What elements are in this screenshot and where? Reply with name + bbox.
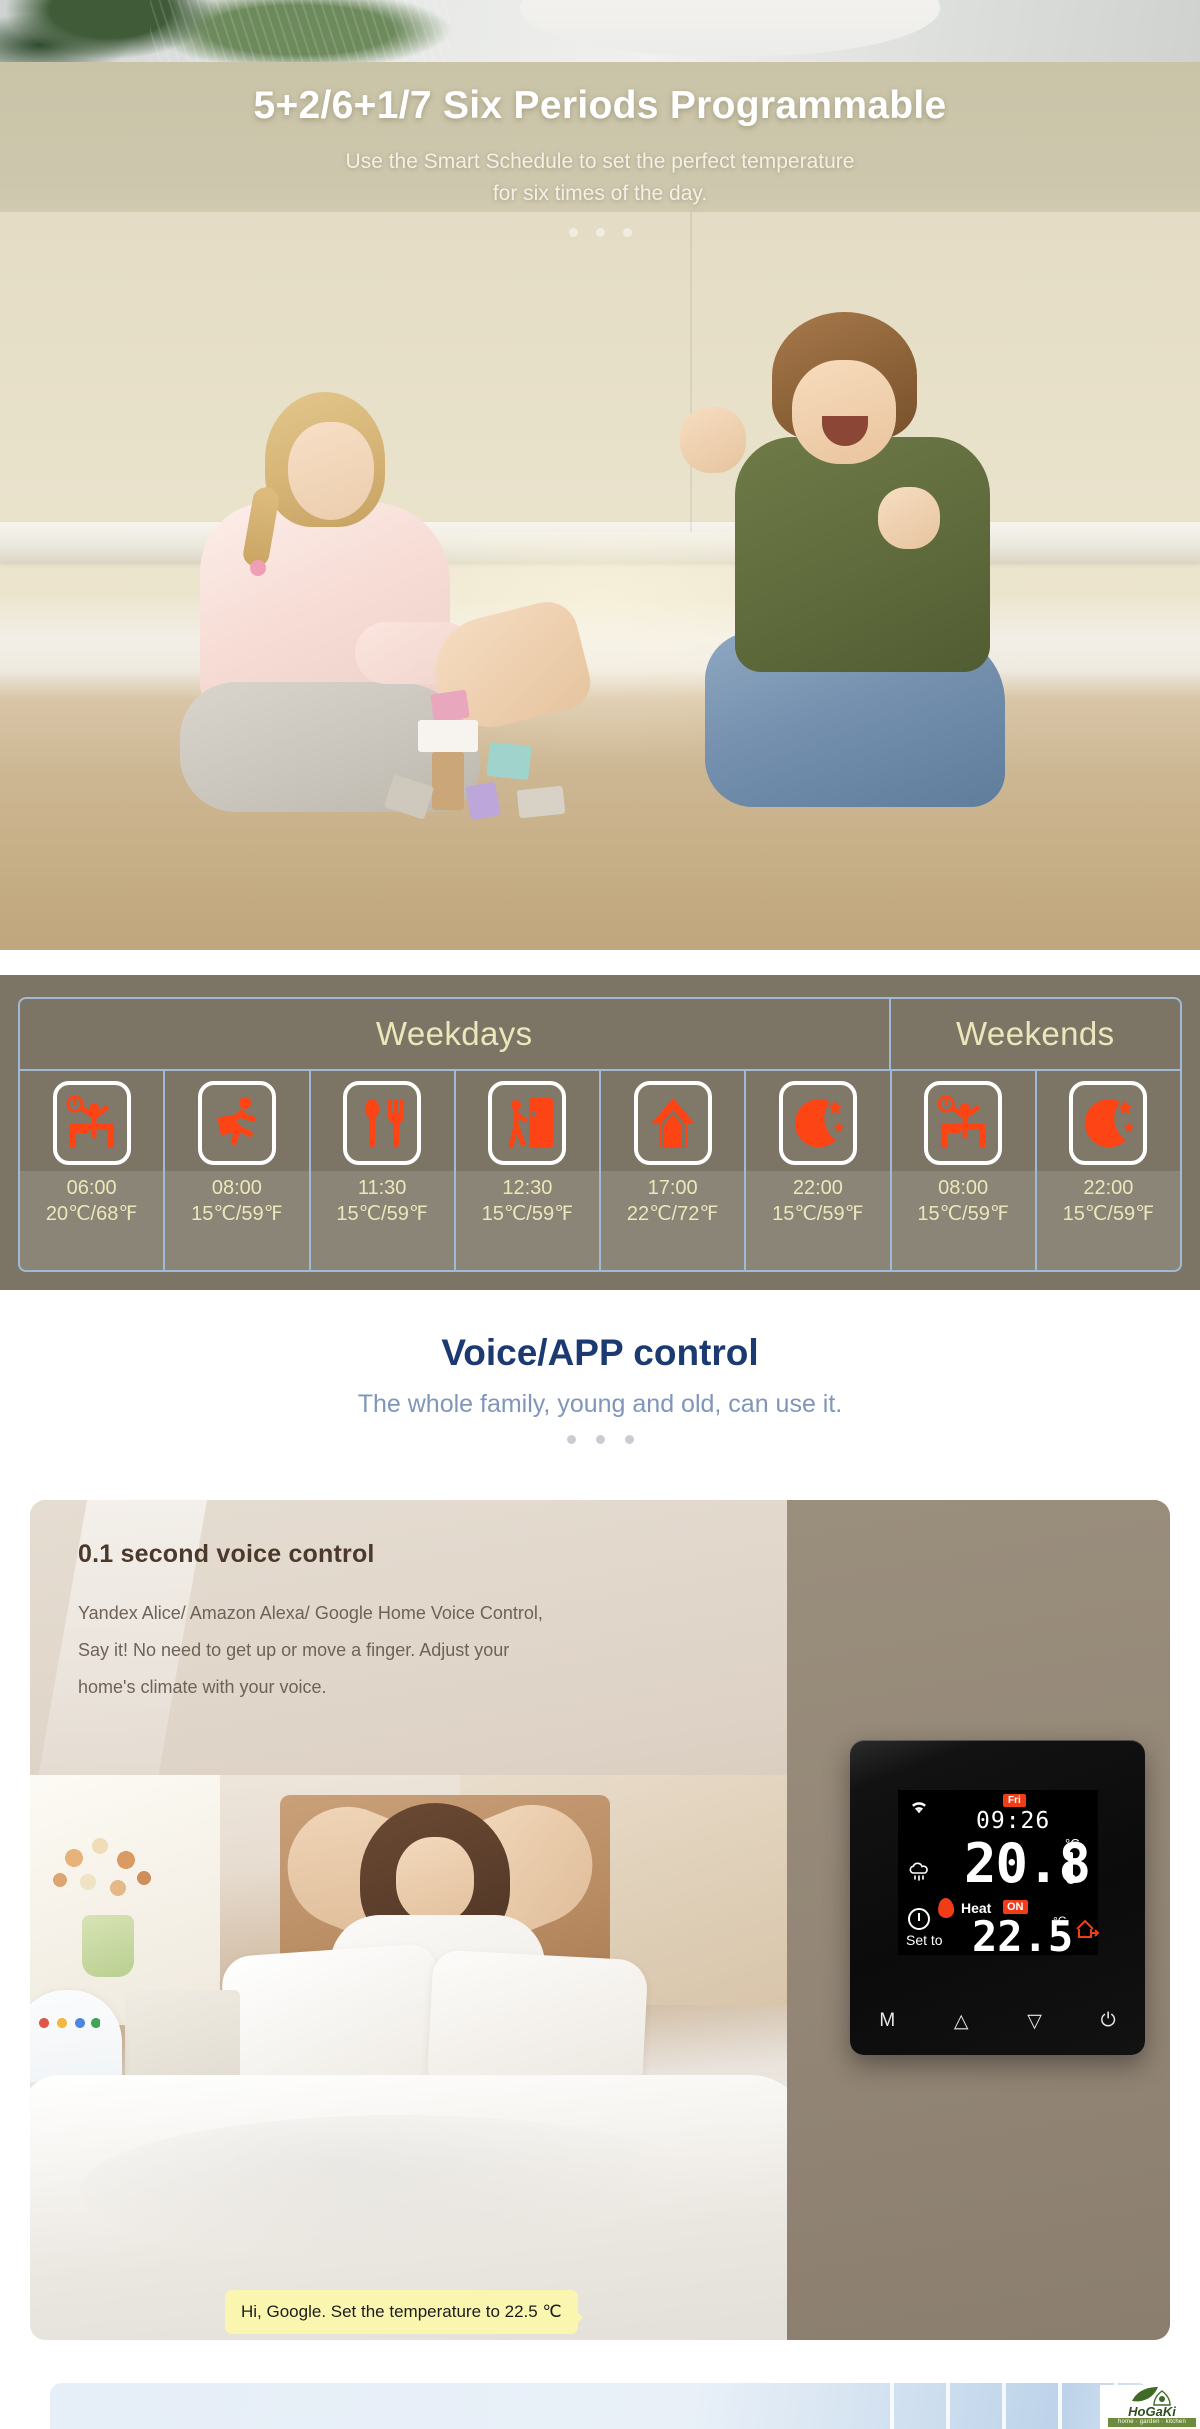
thermostat-button-row[interactable]: M△▽⏻ bbox=[850, 1998, 1145, 2044]
meal-icon bbox=[354, 1093, 410, 1153]
toy-blocks bbox=[392, 692, 632, 832]
top-photo-strip bbox=[0, 0, 1200, 62]
schedule-values-7: 08:0015℃/59℉ bbox=[892, 1171, 1035, 1270]
schedule-group-weekdays: Weekdays bbox=[20, 999, 891, 1069]
schedule-icon-box-5 bbox=[634, 1081, 712, 1165]
decor-wall-corner bbox=[690, 212, 692, 532]
vase bbox=[82, 1915, 134, 1977]
schedule-section: Weekdays Weekends 06:0020℃/68℉08:0015℃/5… bbox=[0, 975, 1200, 1290]
schedule-period-3[interactable]: 11:3015℃/59℉ bbox=[311, 1071, 456, 1270]
schedule-group-weekends: Weekends bbox=[891, 999, 1181, 1069]
voice-card-body-line-2: Say it! No need to get up or move a fing… bbox=[78, 1632, 718, 1669]
schedule-values-6: 22:0015℃/59℉ bbox=[746, 1171, 889, 1270]
schedule-period-1[interactable]: 06:0020℃/68℉ bbox=[20, 1071, 165, 1270]
schedule-period-columns: 06:0020℃/68℉08:0015℃/59℉11:3015℃/59℉12:3… bbox=[20, 1071, 1180, 1270]
schedule-values-3: 11:3015℃/59℉ bbox=[311, 1171, 454, 1270]
voice-card-title: 0.1 second voice control bbox=[78, 1540, 375, 1569]
voice-section-subtitle: The whole family, young and old, can use… bbox=[0, 1390, 1200, 1419]
schedule-icon-box-4 bbox=[488, 1081, 566, 1165]
speaker-led-icon bbox=[36, 2016, 100, 2030]
schedule-time-4: 12:30 bbox=[456, 1175, 599, 1201]
schedule-header-row: Weekdays Weekends bbox=[20, 999, 1180, 1071]
schedule-icon-box-3 bbox=[343, 1081, 421, 1165]
next-section-panel bbox=[50, 2383, 1150, 2429]
voice-card-body-line-1: Yandex Alice/ Amazon Alexa/ Google Home … bbox=[78, 1595, 718, 1632]
schedule-time-6: 22:00 bbox=[746, 1175, 889, 1201]
schedule-time-8: 22:00 bbox=[1037, 1175, 1180, 1201]
schedule-temp-2: 15℃/59℉ bbox=[165, 1201, 308, 1227]
voice-card-body: Yandex Alice/ Amazon Alexa/ Google Home … bbox=[78, 1595, 718, 1706]
carousel-dot-3[interactable] bbox=[623, 228, 632, 237]
thermostat-button-3[interactable]: ▽ bbox=[1027, 2010, 1042, 2033]
bedroom-photo: Hi, Google. Set the temperature to 22.5 … bbox=[30, 1775, 787, 2340]
schedule-period-7[interactable]: 08:0015℃/59℉ bbox=[892, 1071, 1037, 1270]
carousel-dots[interactable] bbox=[0, 228, 1200, 237]
carousel-dots-2[interactable] bbox=[0, 1435, 1200, 1444]
schedule-time-2: 08:00 bbox=[165, 1175, 308, 1201]
schedule-icon-box-8 bbox=[1069, 1081, 1147, 1165]
schedule-values-8: 22:0015℃/59℉ bbox=[1037, 1171, 1180, 1270]
schedule-period-2[interactable]: 08:0015℃/59℉ bbox=[165, 1071, 310, 1270]
schedule-period-4[interactable]: 12:3015℃/59℉ bbox=[456, 1071, 601, 1270]
brand-name: HoGaKi bbox=[1108, 2404, 1196, 2419]
voice-card-body-line-3: home's climate with your voice. bbox=[78, 1669, 718, 1706]
thermostat-screen: Fri 09:26 20.8 °C Heat ON Set to 22.5 °C bbox=[898, 1790, 1098, 1955]
schedule-values-2: 08:0015℃/59℉ bbox=[165, 1171, 308, 1270]
product-detail-page: 5+2/6+1/7 Six Periods Programmable Use t… bbox=[0, 0, 1200, 2429]
schedule-temp-3: 15℃/59℉ bbox=[311, 1201, 454, 1227]
next-section-preview: HoGaKi home · garden · kitchen bbox=[0, 2383, 1200, 2429]
schedule-values-1: 06:0020℃/68℉ bbox=[20, 1171, 163, 1270]
wake-up-icon bbox=[64, 1093, 120, 1153]
home-icon bbox=[645, 1093, 701, 1153]
carousel-dot-5[interactable] bbox=[596, 1435, 605, 1444]
woman-face bbox=[396, 1837, 474, 1923]
chat-bubbles: Hi, Google. Set the temperature to 22.5 … bbox=[30, 2255, 787, 2340]
schedule-period-5[interactable]: 17:0022℃/72℉ bbox=[601, 1071, 746, 1270]
thermostat-button-2[interactable]: △ bbox=[954, 2010, 969, 2033]
thermostat-button-1[interactable]: M bbox=[879, 2010, 895, 2032]
voice-control-card: Hi, Google. Set the temperature to 22.5 … bbox=[30, 1500, 1170, 2340]
thermostat-day-badge: Fri bbox=[1003, 1794, 1026, 1807]
brand-tagline: home · garden · kitchen bbox=[1108, 2418, 1196, 2427]
voice-section-header: Voice/APP control The whole family, youn… bbox=[0, 1290, 1200, 1444]
schedule-time-3: 11:30 bbox=[311, 1175, 454, 1201]
flame-icon bbox=[937, 1897, 954, 1918]
voice-card-left-panel: Hi, Google. Set the temperature to 22.5 … bbox=[30, 1500, 787, 2340]
schedule-icon-box-7 bbox=[924, 1081, 1002, 1165]
carousel-dot-2[interactable] bbox=[596, 228, 605, 237]
hero-subtitle-line-2: for six times of the day. bbox=[0, 178, 1200, 210]
wake-up-icon bbox=[935, 1093, 991, 1153]
bubble-user-command: Hi, Google. Set the temperature to 22.5 … bbox=[225, 2290, 578, 2334]
hero-text-block: 5+2/6+1/7 Six Periods Programmable Use t… bbox=[0, 62, 1200, 237]
voice-section-title: Voice/APP control bbox=[0, 1290, 1200, 1374]
carousel-dot-1[interactable] bbox=[569, 228, 578, 237]
hero-title: 5+2/6+1/7 Six Periods Programmable bbox=[0, 84, 1200, 128]
hero-section: 5+2/6+1/7 Six Periods Programmable Use t… bbox=[0, 62, 1200, 950]
schedule-temp-1: 20℃/68℉ bbox=[20, 1201, 163, 1227]
clock-icon bbox=[908, 1908, 930, 1930]
schedule-temp-8: 15℃/59℉ bbox=[1037, 1201, 1180, 1227]
schedule-temp-4: 15℃/59℉ bbox=[456, 1201, 599, 1227]
schedule-time-7: 08:00 bbox=[892, 1175, 1035, 1201]
thermostat-device: Fri 09:26 20.8 °C Heat ON Set to 22.5 °C… bbox=[850, 1740, 1145, 2055]
thermostat-button-4[interactable]: ⏻ bbox=[1101, 2010, 1116, 2032]
decor-bowl bbox=[520, 0, 940, 56]
carousel-dot-4[interactable] bbox=[567, 1435, 576, 1444]
running-icon bbox=[209, 1093, 265, 1153]
schedule-values-4: 12:3015℃/59℉ bbox=[456, 1171, 599, 1270]
brand-logo: HoGaKi home · garden · kitchen bbox=[1100, 2385, 1196, 2429]
flower-bouquet bbox=[52, 1830, 172, 1925]
schedule-temp-7: 15℃/59℉ bbox=[892, 1201, 1035, 1227]
away-home-icon bbox=[1074, 1918, 1100, 1940]
schedule-temp-5: 22℃/72℉ bbox=[601, 1201, 744, 1227]
schedule-table: Weekdays Weekends 06:0020℃/68℉08:0015℃/5… bbox=[18, 997, 1182, 1272]
thermostat-set-to-label: Set to bbox=[906, 1932, 943, 1948]
schedule-icon-box-6 bbox=[779, 1081, 857, 1165]
schedule-icon-box-2 bbox=[198, 1081, 276, 1165]
schedule-time-5: 17:00 bbox=[601, 1175, 744, 1201]
schedule-icon-box-1 bbox=[53, 1081, 131, 1165]
thermostat-target-unit: °C bbox=[1053, 1914, 1066, 1928]
thermostat-current-unit: °C bbox=[1065, 1836, 1080, 1851]
hero-subtitle: Use the Smart Schedule to set the perfec… bbox=[0, 146, 1200, 210]
night-icon bbox=[1080, 1093, 1136, 1153]
thermometer-icon bbox=[1066, 1852, 1076, 1890]
schedule-period-6[interactable]: 22:0015℃/59℉ bbox=[746, 1071, 891, 1270]
decor-leaf bbox=[150, 0, 450, 62]
schedule-period-8[interactable]: 22:0015℃/59℉ bbox=[1037, 1071, 1180, 1270]
night-icon bbox=[790, 1093, 846, 1153]
carousel-dot-6[interactable] bbox=[625, 1435, 634, 1444]
schedule-time-1: 06:00 bbox=[20, 1175, 163, 1201]
schedule-temp-6: 15℃/59℉ bbox=[746, 1201, 889, 1227]
wifi-icon bbox=[908, 1798, 930, 1815]
humidity-cloud-icon bbox=[906, 1862, 932, 1882]
hero-subtitle-line-1: Use the Smart Schedule to set the perfec… bbox=[0, 146, 1200, 178]
leaving-icon bbox=[499, 1093, 555, 1153]
thermostat-time: 09:26 bbox=[976, 1808, 1050, 1834]
schedule-values-5: 17:0022℃/72℉ bbox=[601, 1171, 744, 1270]
child-right bbox=[700, 312, 1100, 812]
